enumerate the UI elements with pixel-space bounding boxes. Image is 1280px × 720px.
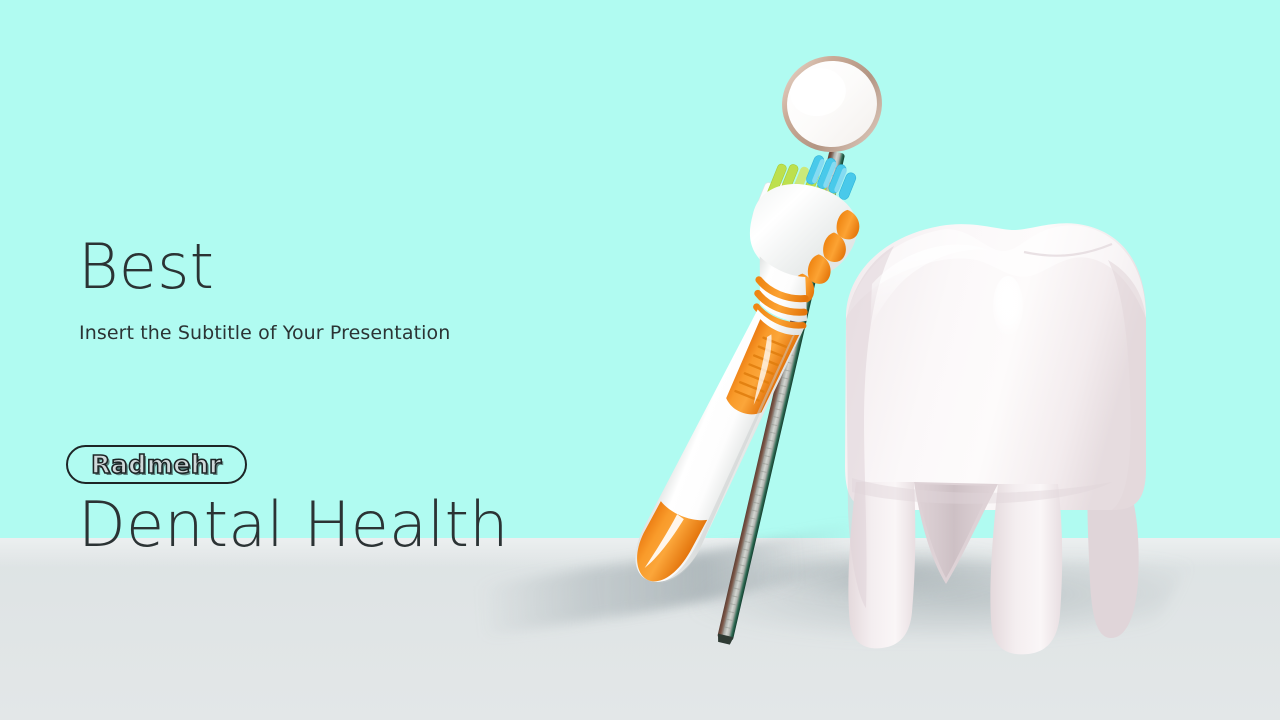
presentation-slide: Best Dental Health PPT Templates Insert … (0, 0, 1280, 720)
tooth-root-right (990, 484, 1062, 654)
page-subtitle: Insert the Subtitle of Your Presentation (79, 322, 450, 344)
radmehr-badge[interactable]: Radmehr (66, 445, 247, 484)
title-line-1: Best (78, 224, 698, 310)
page-title: Best Dental Health PPT Templates (78, 52, 698, 720)
tooth-specular-highlight (993, 276, 1023, 336)
title-line-2: Dental Health (78, 482, 698, 568)
badge-label: Radmehr (91, 452, 222, 477)
